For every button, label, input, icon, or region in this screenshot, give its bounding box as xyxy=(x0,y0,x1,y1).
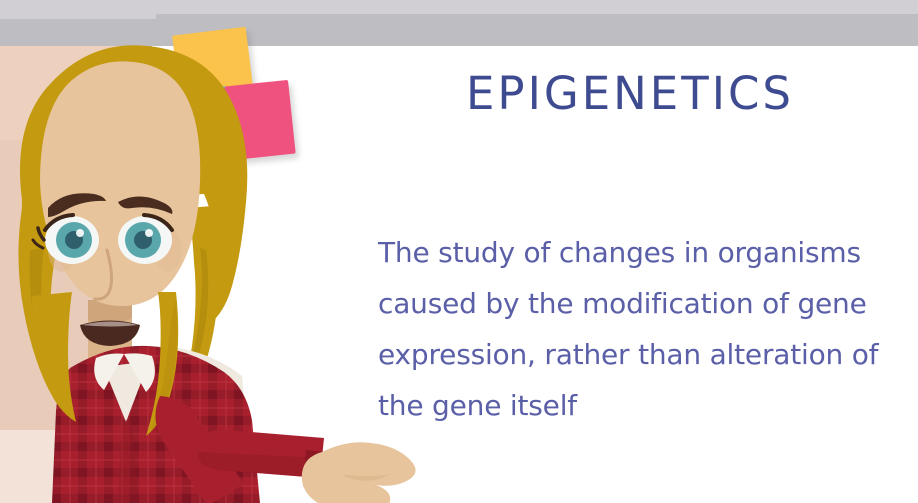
slide-definition-text: The study of changes in organisms caused… xyxy=(378,227,903,431)
definition-line-2: caused by the modification of gene xyxy=(378,278,903,329)
left-wall-panel-lower xyxy=(0,430,60,503)
text-panel: EPIGENETICS The study of changes in orga… xyxy=(370,55,910,455)
explainer-slide-frame: EPIGENETICS The study of changes in orga… xyxy=(0,0,918,503)
definition-line-4: the gene itself xyxy=(378,380,903,431)
teal-sticky-note xyxy=(151,82,227,149)
pink-sticky-note xyxy=(224,80,295,160)
definition-line-3: expression, rather than alteration of xyxy=(378,329,903,380)
grey-horizontal-beam xyxy=(156,14,918,46)
definition-line-1: The study of changes in organisms xyxy=(378,227,903,278)
page-title: EPIGENETICS xyxy=(370,67,890,120)
